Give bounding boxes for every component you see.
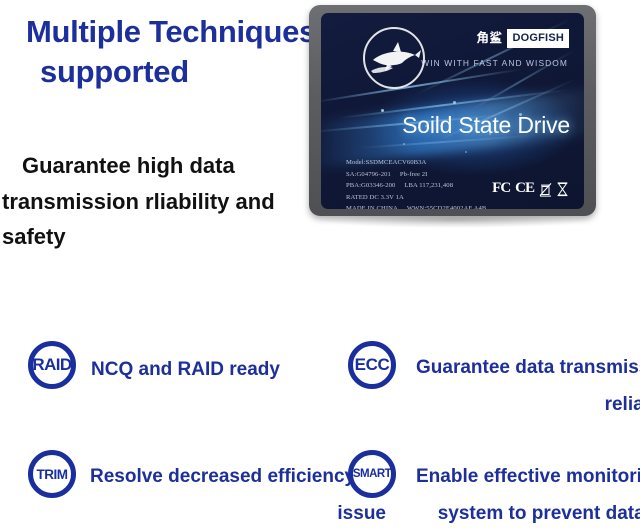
weee-bin-icon: [539, 182, 552, 197]
feature-ecc-text: Guarantee data transmission reliability: [416, 341, 640, 423]
feature-trim: TRIM Resolve decreased efficiency issue: [28, 450, 386, 528]
trim-badge-icon: TRIM: [28, 450, 76, 498]
spec-rated: RATED DC 3.3V 1A: [346, 192, 486, 204]
feature-raid-text: NCQ and RAID ready: [91, 341, 280, 388]
subheadline: Guarantee high data transmission rliabil…: [0, 148, 320, 255]
spec-model: Model:SSDMCEACV60B3A: [346, 157, 486, 169]
spec-pba-line: PBA:G03346-200LBA 117,231,408: [346, 180, 486, 192]
ssd-label: 角鲨 DOGFISH WIN WITH FAST AND WISDOM Soil…: [321, 13, 584, 209]
brand-name-en: DOGFISH: [507, 29, 569, 48]
headline-line-2: supported: [26, 52, 316, 92]
product-spec-block: Model:SSDMCEACV60B3A SA:G04796-201Pb-fre…: [346, 157, 486, 209]
page-title: Multiple Techniques supported: [26, 12, 316, 93]
shark-logo-icon: [363, 27, 425, 89]
feature-smart: SMART Enable effective monitoring system…: [348, 450, 640, 528]
fcc-icon: FC: [492, 180, 510, 197]
headline-line-1: Multiple Techniques: [26, 14, 316, 49]
feature-smart-text: Enable effective monitoring system to pr…: [416, 450, 640, 528]
feature-ecc-line-1: Guarantee data transmission: [416, 357, 640, 378]
subheadline-line-1: Guarantee high data: [0, 148, 320, 184]
raid-badge-icon: RAID: [28, 341, 76, 389]
ecc-badge-icon: ECC: [348, 341, 396, 389]
marketing-banner: Multiple Techniques supported Guarantee …: [0, 0, 640, 528]
subheadline-line-2: transmission rliability and safety: [0, 184, 320, 255]
spec-sa-line: SA:G04796-201Pb-free 2I: [346, 169, 486, 181]
product-tagline: WIN WITH FAST AND WISDOM: [421, 58, 568, 68]
feature-smart-line-2: system to prevent data loss: [416, 495, 640, 528]
feature-ecc-line-2: reliability: [416, 386, 640, 423]
brand-name-cn: 角鲨: [474, 29, 507, 48]
smart-badge-icon: SMART: [348, 450, 396, 498]
brand-badge: 角鲨 DOGFISH: [474, 29, 569, 48]
feature-smart-line-1: Enable effective monitoring: [416, 466, 640, 487]
feature-trim-line-2: issue: [90, 495, 386, 528]
product-image-ssd: 角鲨 DOGFISH WIN WITH FAST AND WISDOM Soil…: [309, 5, 596, 216]
feature-trim-line-1: Resolve decreased efficiency: [90, 466, 355, 487]
feature-trim-text: Resolve decreased efficiency issue: [90, 450, 386, 528]
feature-raid-line-1: NCQ and RAID ready: [91, 359, 280, 380]
certification-marks: FC CE: [492, 180, 568, 197]
spec-origin-line: MADE IN CHINAWWN:55CD2E4002AF A4B: [346, 203, 486, 209]
feature-raid: RAID NCQ and RAID ready: [28, 341, 280, 389]
rohs-icon: [557, 182, 568, 197]
product-type-title: Soild State Drive: [402, 112, 570, 139]
feature-ecc: ECC Guarantee data transmission reliabil…: [348, 341, 640, 423]
ce-icon: CE: [515, 180, 534, 197]
